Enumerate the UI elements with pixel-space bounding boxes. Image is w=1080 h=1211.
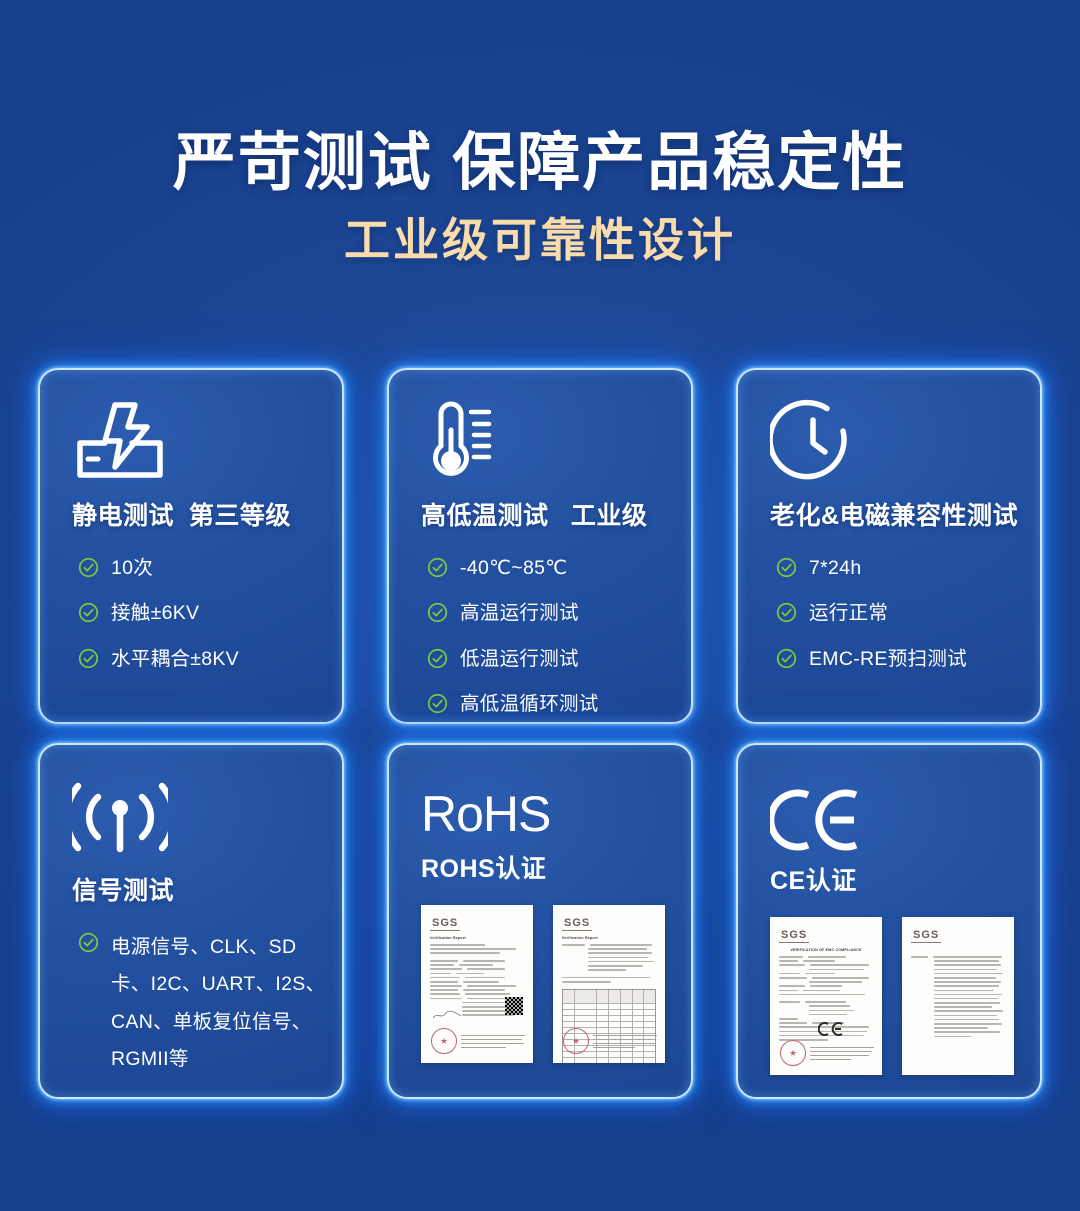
card-title: 老化&电磁兼容性测试 <box>770 488 1040 532</box>
check-circle-icon <box>427 648 448 669</box>
card-aging-emc-test[interactable]: 老化&电磁兼容性测试 7*24h <box>736 368 1042 724</box>
list-item-label: EMC-RE预扫测试 <box>809 645 967 673</box>
card-body: 信号测试 电源信号、CLK、SD卡、I2C、UART、I2S、CAN、单板复位信… <box>40 745 342 1097</box>
list-item: 接触±6KV <box>78 599 342 627</box>
list-item-label: -40℃~85℃ <box>460 554 567 582</box>
sgs-logo: SGS <box>562 917 592 931</box>
sgs-logo: SGS <box>430 917 460 931</box>
qr-code <box>505 997 523 1015</box>
bullet-list: -40℃~85℃ 高温运行测试 <box>421 532 691 718</box>
test-card-grid: 静电测试 第三等级 10次 <box>38 368 1042 1099</box>
card-body: 老化&电磁兼容性测试 7*24h <box>738 370 1040 722</box>
rohs-logo: RoHS <box>421 789 691 839</box>
list-item-label: 运行正常 <box>809 599 888 627</box>
list-item: EMC-RE预扫测试 <box>776 645 1040 673</box>
list-item-label: 高温运行测试 <box>460 599 579 627</box>
list-item: 低温运行测试 <box>427 645 691 673</box>
doc-footer <box>593 1035 657 1051</box>
signal-antenna-icon <box>72 771 342 863</box>
list-item: 10次 <box>78 554 342 582</box>
signature <box>431 1007 465 1017</box>
list-item-label: 低温运行测试 <box>460 645 579 673</box>
doc-footer <box>461 1035 525 1051</box>
card-esd-test[interactable]: 静电测试 第三等级 10次 <box>38 368 344 724</box>
card-title: 信号测试 <box>72 863 342 907</box>
ce-mark-logo <box>770 789 1040 851</box>
card-body: 静电测试 第三等级 10次 <box>40 370 342 722</box>
list-item-label: 10次 <box>111 554 153 582</box>
page-root: 严苛测试 保障产品稳定性 工业级可靠性设计 静电测试 第三等级 <box>0 0 1080 1211</box>
card-title: 静电测试 第三等级 <box>72 488 342 532</box>
certificate-document[interactable]: SGS Verification Report <box>421 905 533 1063</box>
official-seal <box>563 1028 589 1054</box>
bullet-list: 电源信号、CLK、SD卡、I2C、UART、I2S、CAN、单板复位信号、RGM… <box>72 907 342 1079</box>
bullet-list: 10次 接触±6KV <box>72 532 342 673</box>
doc-text-lines <box>911 956 1005 1037</box>
doc-text-lines <box>562 944 656 983</box>
certificate-thumbnails: SGS VERIFICATION OF EMC COMPLIANCE <box>770 897 1040 1075</box>
check-circle-icon <box>427 693 448 714</box>
list-item: 运行正常 <box>776 599 1040 627</box>
page-title: 严苛测试 保障产品稳定性 <box>0 0 1080 199</box>
esd-lightning-icon <box>72 396 342 488</box>
cert-title: ROHS认证 <box>421 839 691 885</box>
certificate-document[interactable]: SGS Verification Report <box>553 905 665 1063</box>
list-item: 7*24h <box>776 554 1040 582</box>
official-seal <box>780 1040 806 1066</box>
doc-heading: VERIFICATION OF EMC COMPLIANCE <box>779 948 873 952</box>
check-circle-icon <box>78 602 99 623</box>
list-item: 水平耦合±8KV <box>78 645 342 673</box>
thermometer-icon <box>421 396 691 488</box>
certificate-thumbnails: SGS Verification Report <box>421 885 691 1063</box>
list-item-label: 7*24h <box>809 554 861 582</box>
sgs-logo: SGS <box>779 929 809 943</box>
ce-mark-stamp <box>818 1022 844 1041</box>
bullet-list: 7*24h 运行正常 <box>770 532 1040 673</box>
doc-heading: Verification Report <box>430 936 524 940</box>
page-subtitle: 工业级可靠性设计 <box>0 199 1080 267</box>
list-item: 高温运行测试 <box>427 599 691 627</box>
check-circle-icon <box>78 932 99 953</box>
check-circle-icon <box>78 557 99 578</box>
card-ce-certification[interactable]: CE认证 SGS VERIFICATION OF EMC COMPLIANCE <box>736 743 1042 1099</box>
list-item-label: 接触±6KV <box>111 599 199 627</box>
check-circle-icon <box>427 602 448 623</box>
card-body: RoHS ROHS认证 SGS Verification Report <box>389 745 691 1097</box>
certificate-document[interactable]: SGS <box>902 917 1014 1075</box>
check-circle-icon <box>776 602 797 623</box>
check-circle-icon <box>776 648 797 669</box>
table-row <box>563 1058 655 1064</box>
sgs-logo: SGS <box>911 929 941 943</box>
list-item-label: 水平耦合±8KV <box>111 645 239 673</box>
check-circle-icon <box>776 557 797 578</box>
page-header: 严苛测试 保障产品稳定性 工业级可靠性设计 <box>0 0 1080 266</box>
certificate-document[interactable]: SGS VERIFICATION OF EMC COMPLIANCE <box>770 917 882 1075</box>
list-item-label: 电源信号、CLK、SD卡、I2C、UART、I2S、CAN、单板复位信号、RGM… <box>111 929 333 1079</box>
official-seal <box>431 1028 457 1054</box>
card-temperature-test[interactable]: 高低温测试 工业级 -40℃~85℃ <box>387 368 693 724</box>
card-rohs-certification[interactable]: RoHS ROHS认证 SGS Verification Report <box>387 743 693 1099</box>
check-circle-icon <box>78 648 99 669</box>
list-item: 电源信号、CLK、SD卡、I2C、UART、I2S、CAN、单板复位信号、RGM… <box>78 929 342 1079</box>
doc-footer <box>810 1047 874 1063</box>
list-item-label: 高低温循环测试 <box>460 690 599 718</box>
list-item: -40℃~85℃ <box>427 554 691 582</box>
card-signal-test[interactable]: 信号测试 电源信号、CLK、SD卡、I2C、UART、I2S、CAN、单板复位信… <box>38 743 344 1099</box>
cert-title: CE认证 <box>770 851 1040 897</box>
card-body: CE认证 SGS VERIFICATION OF EMC COMPLIANCE <box>738 745 1040 1097</box>
card-body: 高低温测试 工业级 -40℃~85℃ <box>389 370 691 722</box>
doc-heading: Verification Report <box>562 936 656 940</box>
check-circle-icon <box>427 557 448 578</box>
list-item: 高低温循环测试 <box>427 690 691 718</box>
table-row <box>563 990 655 1004</box>
card-title: 高低温测试 工业级 <box>421 488 691 532</box>
clock-icon <box>770 396 1040 488</box>
